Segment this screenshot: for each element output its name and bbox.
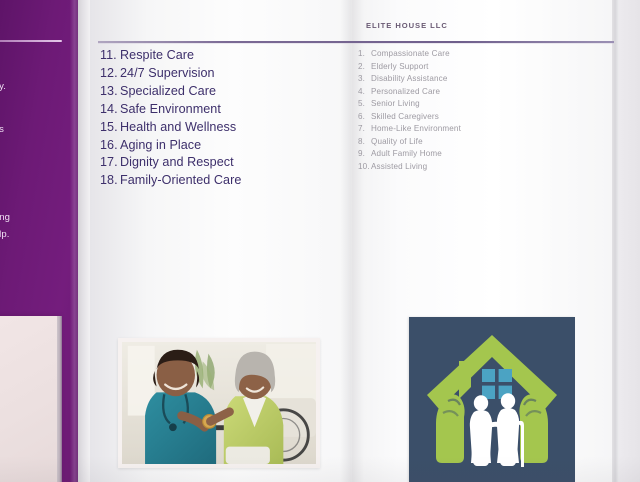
list-item-label: Aging in Place	[120, 138, 201, 152]
logo-card-edge	[57, 316, 62, 482]
list-item: 5.Senior Living	[358, 98, 598, 111]
list-item-number: 18.	[100, 172, 120, 190]
list-item-number: 11.	[100, 47, 120, 65]
list-item: 16.Aging in Place	[100, 137, 340, 155]
list-item-number: 10.	[358, 161, 371, 174]
list-item-number: 16.	[100, 137, 120, 155]
list-item-number: 17.	[100, 154, 120, 172]
list-item-label: Senior Living	[371, 99, 420, 108]
list-item-number: 12.	[100, 65, 120, 83]
list-item-label: Disability Assistance	[371, 74, 447, 83]
list-item-label: Adult Family Home	[371, 149, 442, 158]
list-item: 14.Safe Environment	[100, 101, 340, 119]
brochure-spread: ELITE HOUSE LLC 11.Respite Care 12.24/7 …	[0, 0, 640, 482]
list-item: 8.Quality of Life	[358, 136, 598, 149]
left-copy-line: additional help.	[0, 226, 69, 244]
list-item-number: 8.	[358, 136, 371, 149]
list-item-number: 4.	[358, 86, 371, 99]
list-item-number: 14.	[100, 101, 120, 119]
page-gutter	[78, 0, 90, 482]
list-item-label: Personalized Care	[371, 87, 440, 96]
left-copy-line: ommunicate	[0, 138, 69, 156]
shield-icon: LC	[0, 334, 16, 452]
list-item-number: 9.	[358, 148, 371, 161]
left-copy-line: r	[0, 103, 69, 121]
center-services-list: 11.Respite Care 12.24/7 Supervision 13.S…	[100, 47, 340, 190]
list-item-number: 13.	[100, 83, 120, 101]
right-page-edge	[612, 0, 619, 482]
left-copy-line: provide	[0, 156, 69, 174]
left-copy-line: o manage	[0, 191, 69, 209]
list-item-label: Compassionate Care	[371, 49, 450, 58]
list-item-label: Home-Like Environment	[371, 124, 461, 133]
left-copy-line: additional	[0, 52, 69, 70]
house-with-hands-logo	[409, 317, 575, 482]
list-item: 15.Health and Wellness	[100, 119, 340, 137]
list-item-label: Safe Environment	[120, 102, 221, 116]
list-item-label: Health and Wellness	[120, 120, 236, 134]
left-panel-bevel	[70, 0, 78, 482]
list-item-number: 6.	[358, 111, 371, 124]
left-panel-copy: additional d supportively. r techniques …	[0, 52, 69, 244]
left-panel-divider	[0, 40, 62, 42]
shield-logo-card: LC	[0, 316, 58, 482]
left-copy-line: ols for handling	[0, 209, 69, 227]
list-item-label: 24/7 Supervision	[120, 66, 215, 80]
left-copy-line: techniques as	[0, 121, 69, 139]
list-item-number: 15.	[100, 119, 120, 137]
list-item: 10.Assisted Living	[358, 161, 598, 174]
left-copy-line: l	[0, 174, 69, 192]
caregiver-photo-frame	[118, 338, 320, 468]
list-item: 9.Adult Family Home	[358, 148, 598, 161]
left-copy-line: d supportively.	[0, 78, 69, 96]
right-page-outer-margin	[619, 0, 640, 482]
list-item-label: Specialized Care	[120, 84, 216, 98]
list-item: 7.Home-Like Environment	[358, 123, 598, 136]
list-item-label: Respite Care	[120, 48, 194, 62]
list-item-label: Skilled Caregivers	[371, 112, 439, 121]
list-item-label: Elderly Support	[371, 62, 429, 71]
left-purple-panel: additional d supportively. r techniques …	[0, 0, 78, 482]
header-divider-rule	[98, 41, 614, 44]
list-item: 17.Dignity and Respect	[100, 154, 340, 172]
list-item: 18.Family-Oriented Care	[100, 172, 340, 190]
right-services-list: 1.Compassionate Care 2.Elderly Support 3…	[358, 48, 598, 173]
list-item: 13.Specialized Care	[100, 83, 340, 101]
list-item: 11.Respite Care	[100, 47, 340, 65]
brand-title: ELITE HOUSE LLC	[366, 21, 448, 30]
list-item: 1.Compassionate Care	[358, 48, 598, 61]
list-item: 3.Disability Assistance	[358, 73, 598, 86]
list-item: 4.Personalized Care	[358, 86, 598, 99]
list-item-label: Dignity and Respect	[120, 155, 234, 169]
list-item: 12.24/7 Supervision	[100, 65, 340, 83]
list-item-label: Assisted Living	[371, 162, 427, 171]
list-item-number: 1.	[358, 48, 371, 61]
list-item-number: 2.	[358, 61, 371, 74]
list-item: 6.Skilled Caregivers	[358, 111, 598, 124]
list-item-label: Quality of Life	[371, 137, 423, 146]
list-item-number: 3.	[358, 73, 371, 86]
caregiver-and-senior-photo	[122, 342, 316, 464]
list-item: 2.Elderly Support	[358, 61, 598, 74]
list-item-number: 7.	[358, 123, 371, 136]
list-item-number: 5.	[358, 98, 371, 111]
list-item-label: Family-Oriented Care	[120, 173, 241, 187]
